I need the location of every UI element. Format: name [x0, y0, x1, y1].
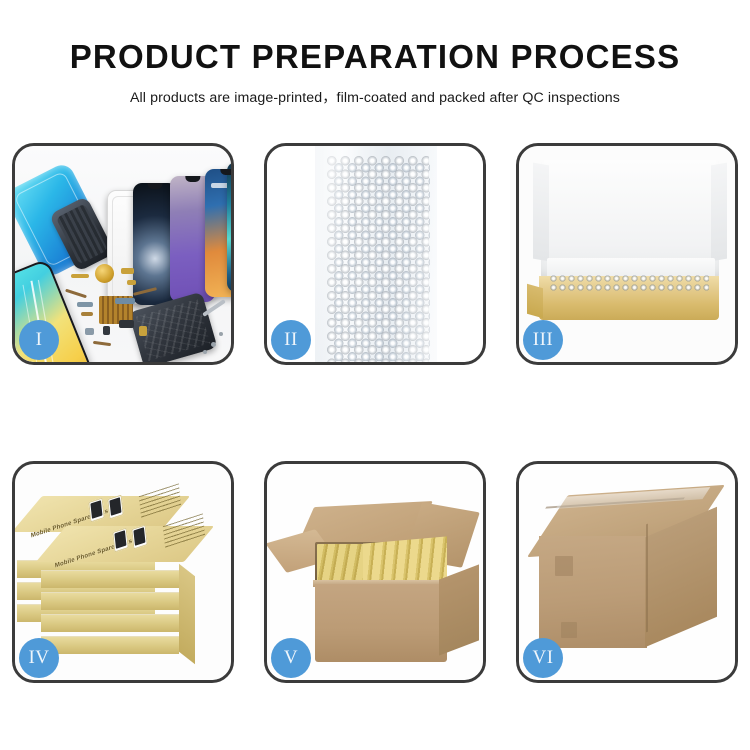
- step-badge-3: III: [523, 320, 563, 360]
- spare-part-chip: [103, 326, 110, 335]
- camera-lens-part: [95, 264, 114, 283]
- spare-part-chip: [77, 302, 93, 307]
- spare-part-chip: [115, 298, 135, 304]
- carton-front-face: [539, 536, 647, 648]
- stacked-box-edge: [41, 592, 179, 610]
- plastic-gloss: [315, 146, 437, 362]
- screw-part: [219, 332, 223, 336]
- stacked-box-edge: [41, 636, 179, 654]
- kraft-tray-front: [539, 292, 719, 320]
- spare-part-chip: [81, 312, 93, 316]
- step-badge-1: I: [19, 320, 59, 360]
- page-header: PRODUCT PREPARATION PROCESS All products…: [0, 0, 750, 107]
- kraft-tray-side: [527, 284, 543, 319]
- step-badge-5: V: [271, 638, 311, 678]
- step-badge-6: VI: [523, 638, 563, 678]
- screw-part: [203, 350, 207, 354]
- step-badge-4: IV: [19, 638, 59, 678]
- stacked-box-side: [179, 564, 195, 665]
- spare-part-chip: [119, 320, 134, 328]
- box-lid-right-flap: [711, 163, 727, 262]
- step-panel-3[interactable]: III: [516, 143, 738, 365]
- step-panel-5[interactable]: V: [264, 461, 486, 683]
- spare-part-chip: [127, 280, 136, 285]
- page-title: PRODUCT PREPARATION PROCESS: [0, 0, 750, 76]
- step-badge-2: II: [271, 320, 311, 360]
- spare-part-chip: [139, 326, 147, 336]
- notch-icon: [220, 169, 231, 175]
- page-subtitle: All products are image-printed，film-coat…: [0, 76, 750, 107]
- phone-display-4: [227, 162, 231, 292]
- stacked-box-edge: [41, 614, 179, 632]
- step-panel-2[interactable]: II: [264, 143, 486, 365]
- carton-front-face: [315, 584, 447, 662]
- spare-part-chip: [121, 268, 134, 274]
- box-lid-left-flap: [533, 163, 549, 262]
- spare-part-chip: [71, 274, 89, 278]
- process-steps-grid: I II III: [12, 143, 738, 683]
- step-panel-6[interactable]: VI: [516, 461, 738, 683]
- carton-flap-tab: [555, 556, 573, 576]
- notch-icon: [185, 176, 200, 182]
- notch-icon: [148, 183, 163, 189]
- spare-part-chip: [85, 328, 94, 335]
- carton-side-face: [439, 564, 479, 655]
- stacked-box-edge: [41, 570, 179, 588]
- carton-vertical-edge: [646, 524, 648, 633]
- carton-flap-tab: [561, 622, 577, 638]
- screw-part: [211, 342, 216, 347]
- step-panel-1[interactable]: I: [12, 143, 234, 365]
- step-panel-4[interactable]: Mobile Phone Spare Parts Mobile Phone Sp…: [12, 461, 234, 683]
